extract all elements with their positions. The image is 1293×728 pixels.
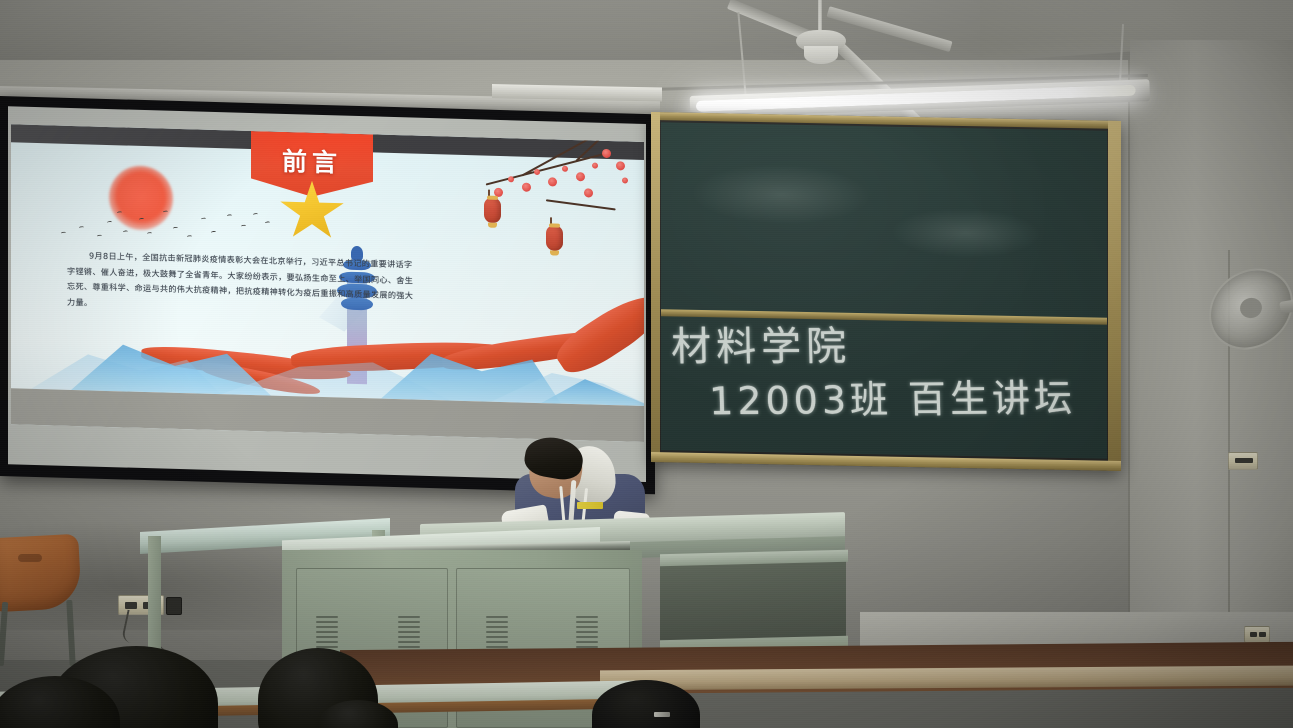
blackboard-text-line1: 材料学院 bbox=[670, 314, 851, 372]
red-lantern-icon bbox=[484, 198, 501, 223]
cap-badge bbox=[654, 712, 670, 717]
fan-downrod bbox=[818, 0, 822, 32]
red-lantern-icon bbox=[546, 225, 563, 250]
podium-shelf-recess bbox=[660, 558, 846, 645]
screen-surface: 前言 bbox=[8, 106, 646, 482]
plum-blossom-branch-graphic bbox=[426, 138, 636, 304]
blackboard-frame-left bbox=[651, 112, 660, 462]
projection-screen: 前言 bbox=[0, 96, 655, 494]
slide-title-text: 前言 bbox=[282, 142, 342, 180]
jacket-logo bbox=[577, 502, 603, 509]
wall-mounted-fan bbox=[1208, 270, 1293, 366]
wall-power-outlet[interactable] bbox=[1244, 626, 1270, 643]
fan-light-cover bbox=[804, 46, 838, 64]
blackboard: 材料学院 12003班 百生讲坛 bbox=[651, 112, 1121, 471]
wall-light-switch[interactable] bbox=[1228, 452, 1258, 470]
classroom-photo: 前言 bbox=[0, 0, 1293, 728]
projected-slide: 前言 bbox=[11, 124, 644, 442]
slide-body-text: 9月8日上午，全国抗击新冠肺炎疫情表彰大会在北京举行，习近平总书记的重要讲话字字… bbox=[67, 248, 419, 320]
chair-handle-slot bbox=[18, 554, 42, 562]
birds-flock-graphic bbox=[51, 195, 271, 251]
wall-seam bbox=[1128, 60, 1130, 660]
blackboard-frame-right bbox=[1108, 121, 1121, 471]
wooden-chair[interactable] bbox=[0, 536, 104, 656]
blackboard-text-line2: 12003班 百生讲坛 bbox=[708, 367, 1076, 425]
